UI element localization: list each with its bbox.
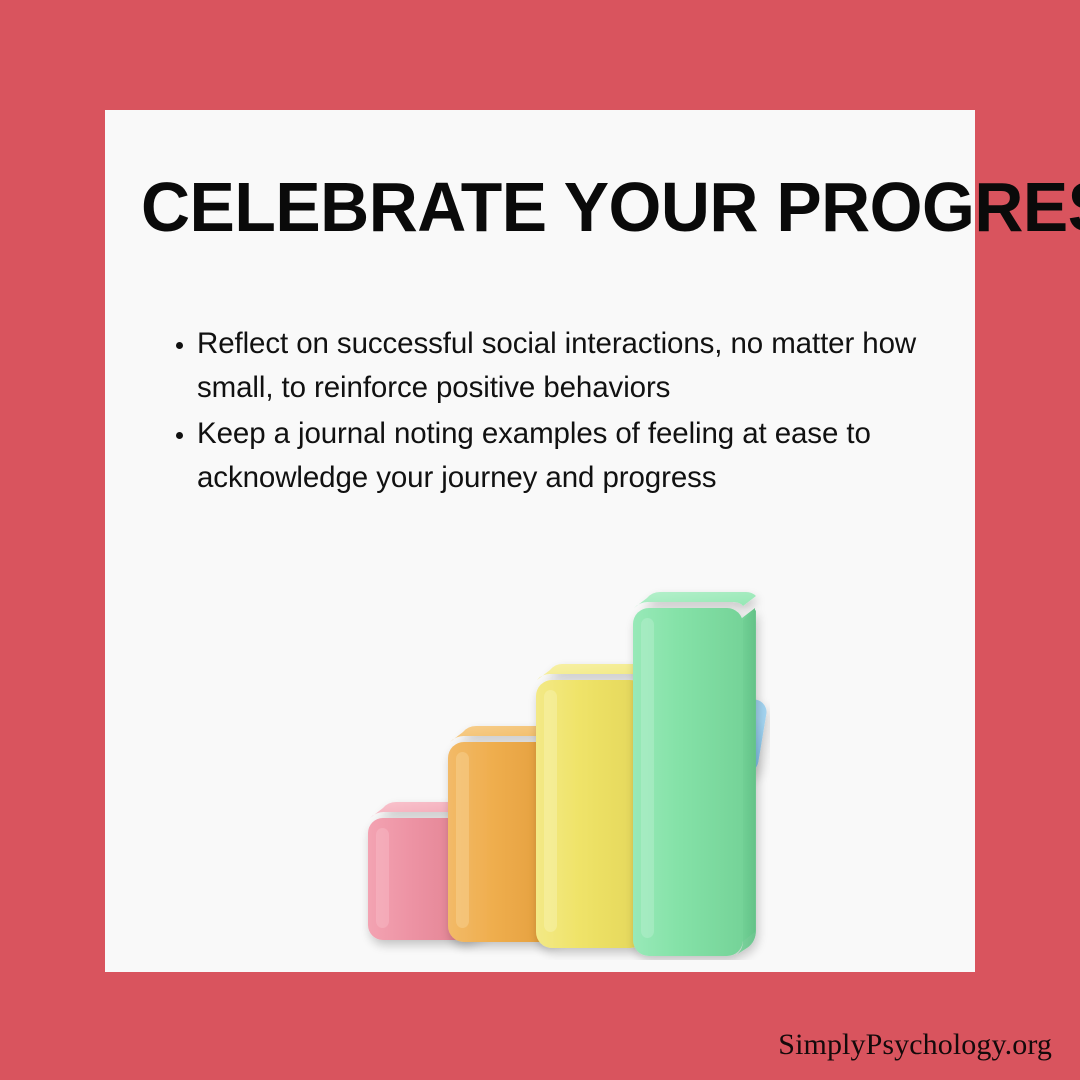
content-card: Celebrate Your Progress Reflect on succe…: [105, 110, 975, 972]
poster-canvas: Celebrate Your Progress Reflect on succe…: [0, 0, 1080, 1080]
list-item: Keep a journal noting examples of feelin…: [169, 412, 939, 500]
tips-list: Reflect on successful social interaction…: [169, 322, 939, 502]
footer-brand: SimplyPsychology.org: [778, 1028, 1052, 1062]
bar-green: [633, 592, 756, 956]
list-item: Reflect on successful social interaction…: [169, 322, 939, 410]
growth-chart-illustration: [350, 530, 770, 960]
page-title: Celebrate Your Progress: [141, 172, 917, 242]
